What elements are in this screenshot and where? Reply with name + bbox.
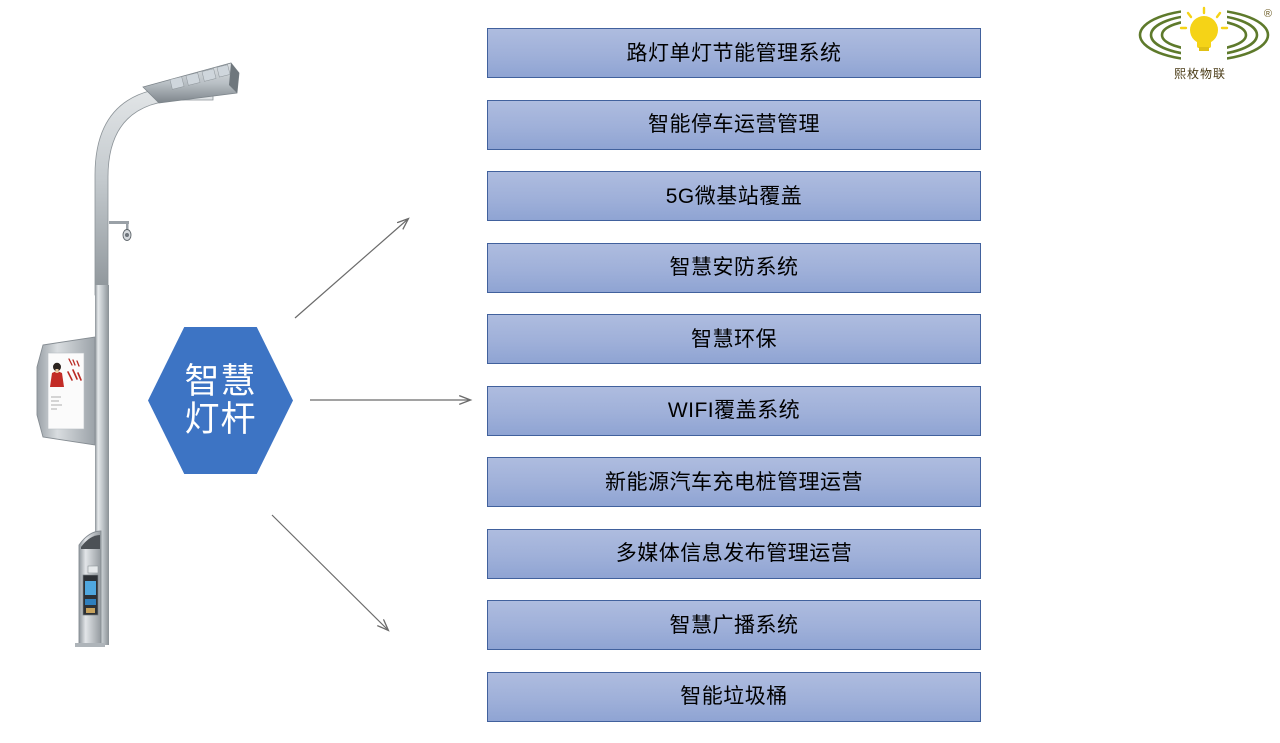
logo-mark-icon bbox=[1134, 2, 1274, 72]
pole-foot bbox=[75, 643, 105, 647]
terminal-display bbox=[85, 581, 96, 595]
feature-box-list: 路灯单灯节能管理系统 智能停车运营管理 5G微基站覆盖 智慧安防系统 智慧环保 … bbox=[487, 28, 981, 743]
feature-box[interactable]: WIFI覆盖系统 bbox=[487, 386, 981, 436]
logo-brand-text: 熙枚物联 bbox=[1134, 65, 1266, 82]
registered-mark-icon: ® bbox=[1264, 8, 1272, 20]
feature-label: 智能停车运营管理 bbox=[648, 114, 820, 135]
center-node-label: 智慧 灯杆 bbox=[148, 327, 293, 474]
pole-arm bbox=[95, 87, 213, 295]
feature-box[interactable]: 智慧环保 bbox=[487, 314, 981, 364]
feature-label: 新能源汽车充电桩管理运营 bbox=[605, 472, 863, 493]
ad-panel bbox=[37, 337, 95, 445]
feature-box[interactable]: 新能源汽车充电桩管理运营 bbox=[487, 457, 981, 507]
feature-box[interactable]: 智慧安防系统 bbox=[487, 243, 981, 293]
feature-box[interactable]: 智能垃圾桶 bbox=[487, 672, 981, 722]
arrow-down-right bbox=[272, 515, 388, 630]
camera-arm bbox=[109, 221, 131, 241]
feature-label: 多媒体信息发布管理运营 bbox=[616, 543, 853, 564]
center-node-smart-pole[interactable]: 智慧 灯杆 bbox=[148, 327, 293, 474]
lamp-head bbox=[143, 63, 239, 103]
feature-box[interactable]: 路灯单灯节能管理系统 bbox=[487, 28, 981, 78]
feature-box[interactable]: 智慧广播系统 bbox=[487, 600, 981, 650]
feature-label: 智慧环保 bbox=[691, 329, 777, 350]
feature-box[interactable]: 智能停车运营管理 bbox=[487, 100, 981, 150]
brand-logo: ® 熙枚物联 bbox=[1134, 2, 1274, 86]
feature-label: 智慧安防系统 bbox=[670, 257, 799, 278]
feature-box[interactable]: 多媒体信息发布管理运营 bbox=[487, 529, 981, 579]
arrow-up-right bbox=[295, 219, 408, 318]
feature-label: 路灯单灯节能管理系统 bbox=[627, 43, 842, 64]
feature-label: 5G微基站覆盖 bbox=[666, 186, 803, 207]
feature-label: WIFI覆盖系统 bbox=[668, 400, 800, 421]
feature-label: 智能垃圾桶 bbox=[680, 686, 788, 707]
feature-label: 智慧广播系统 bbox=[670, 615, 799, 636]
feature-box[interactable]: 5G微基站覆盖 bbox=[487, 171, 981, 221]
pole-base-terminal bbox=[79, 531, 101, 645]
